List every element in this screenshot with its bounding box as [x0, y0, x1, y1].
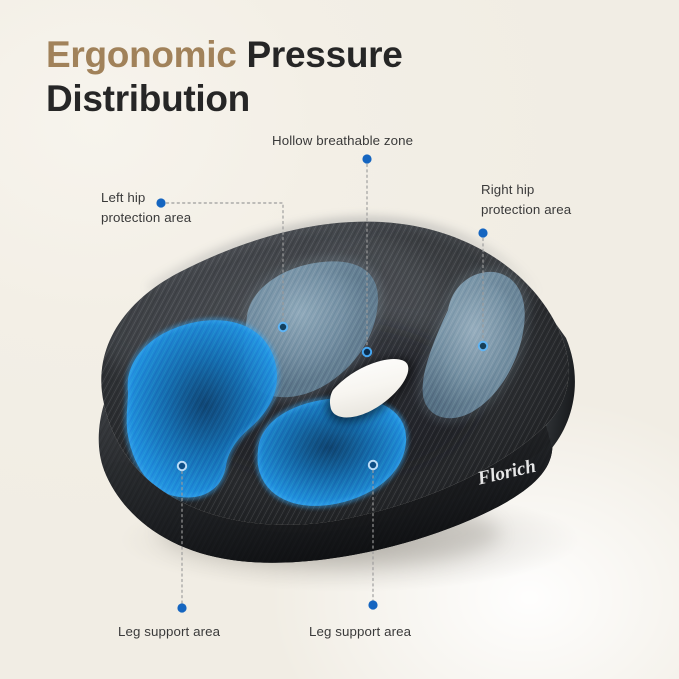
ring-leg-support-area-right	[369, 461, 377, 469]
callout-label-leg-support-area-left: Leg support area	[118, 622, 220, 642]
callout-text: Hollow breathable zone	[272, 133, 413, 148]
dot-hollow-breathable-zone	[362, 154, 371, 163]
callout-text: Leg support area	[118, 624, 220, 639]
ring-left-hip-protection-area	[279, 323, 287, 331]
callout-label-leg-support-area-right: Leg support area	[309, 622, 411, 642]
callout-label-hollow-breathable-zone: Hollow breathable zone	[272, 131, 413, 151]
callout-text-line1: Left hip	[101, 188, 191, 208]
dot-leg-support-area-right	[368, 600, 377, 609]
callout-label-left-hip-protection-area: Left hip protection area	[101, 188, 191, 228]
dot-leg-support-area-left	[177, 603, 186, 612]
infographic-canvas: Ergonomic Pressure Distribution	[0, 0, 679, 679]
callout-text-line1: Right hip	[481, 180, 571, 200]
ring-leg-support-area-left	[178, 462, 186, 470]
dot-right-hip-protection-area	[478, 228, 487, 237]
callout-text: Leg support area	[309, 624, 411, 639]
callout-text-line2: protection area	[101, 208, 191, 228]
ring-right-hip-protection-area	[479, 342, 487, 350]
product-illustration: Florich	[0, 0, 679, 679]
callout-text-line2: protection area	[481, 200, 571, 220]
ring-hollow-breathable-zone	[363, 348, 371, 356]
callout-label-right-hip-protection-area: Right hip protection area	[481, 180, 571, 220]
